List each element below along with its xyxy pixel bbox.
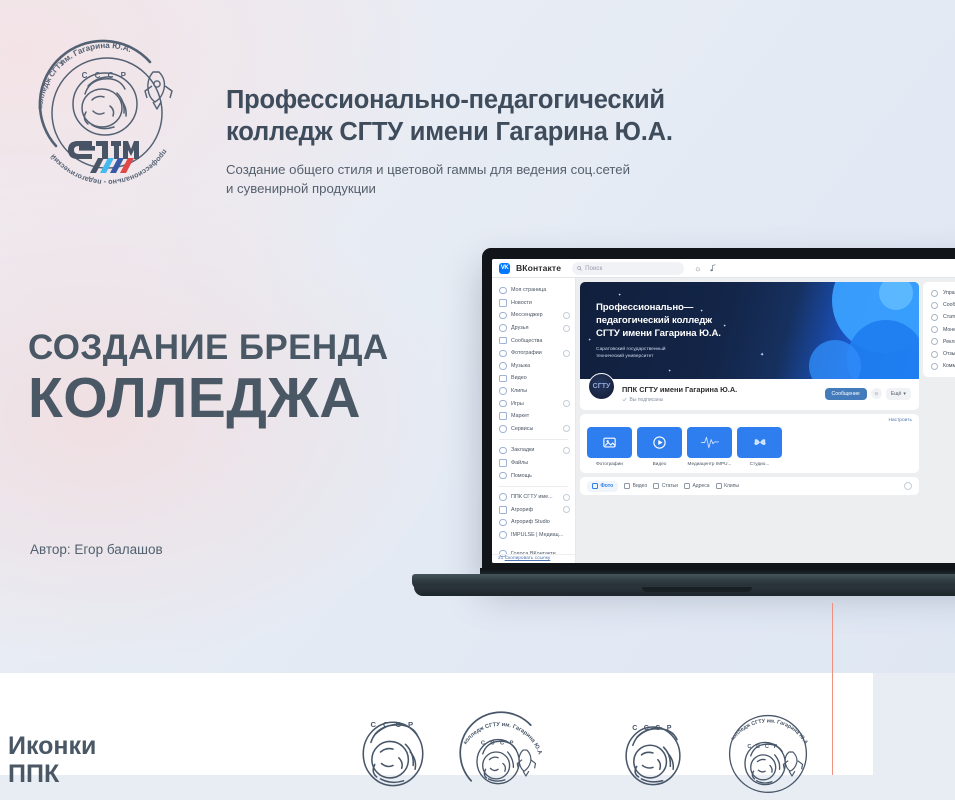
profile-icon: [499, 287, 507, 295]
news-icon: [499, 299, 507, 307]
sidebar-item-badge: [563, 447, 570, 454]
svg-text:С С С Р: С С С Р: [371, 720, 416, 729]
sidebar-item-badge: [563, 350, 570, 357]
photo-icon: [592, 483, 598, 489]
svg-text:С С С Р: С С С Р: [481, 740, 516, 746]
sidebar-item-label: Сервисы: [511, 426, 559, 432]
sidebar-footer-link[interactable]: Скопировать ссылку: [505, 556, 551, 561]
sidebar-item-3[interactable]: Мессенджер: [492, 309, 575, 322]
post-action-label: Адреса: [692, 483, 709, 489]
page-subtitle-line1: Создание общего стиля и цветовой гаммы д…: [226, 160, 826, 179]
star-decoration: ✦: [618, 292, 621, 297]
sidebar-item-badge: [563, 494, 570, 501]
post-composer-bar: ФотоВидеоСтатьиАдресаКлипы: [580, 477, 919, 495]
manage-item-label: Статистика: [943, 314, 955, 320]
icons-slide-heading: Иконки ППК: [8, 732, 96, 788]
waveform-tile-icon: [687, 427, 732, 458]
svg-text:С С С Р: С С С Р: [82, 71, 129, 80]
cover-subtitle-line2: технический университет: [596, 354, 666, 361]
manage-item-7[interactable]: Комментарии: [923, 360, 955, 372]
icon-variant-1: С С С Р: [345, 704, 441, 800]
cover-subtitle: Саратовский государственный технический …: [596, 347, 666, 361]
sidebar-item-badge: [563, 325, 570, 332]
sidebar-item-label: Помощь: [511, 473, 570, 479]
sidebar-item-label: Агрориф: [511, 507, 559, 513]
sidebar-item-5[interactable]: Сообщества: [492, 334, 575, 347]
sidebar-item-1[interactable]: Закладки: [492, 444, 575, 457]
post-action-label: Видео: [633, 483, 648, 489]
hero-heading: СОЗДАНИЕ БРЕНДА КОЛЛЕДЖА: [28, 330, 389, 428]
butterfly-tile-icon: [737, 427, 782, 458]
vk-content: ✦ ✦ ✦ ✦ ✦ ✦ Профессионально— педагогичес…: [576, 278, 955, 563]
clips-icon: [716, 483, 722, 489]
more-button[interactable]: Ещё ▾: [886, 388, 911, 400]
manage-item-3[interactable]: Статистика: [923, 311, 955, 323]
sidebar-item-10[interactable]: Игры: [492, 397, 575, 410]
page-subtitle: Создание общего стиля и цветовой гаммы д…: [226, 160, 826, 198]
sidebar-item-2[interactable]: Новости: [492, 297, 575, 310]
post-action-label: Статьи: [662, 483, 678, 489]
vk-logo-icon[interactable]: VK: [499, 263, 510, 274]
photo-tile-icon: [587, 427, 632, 458]
community-tile-label: Медиацентр IMPU...: [687, 461, 732, 466]
post-action-видео[interactable]: Видео: [624, 483, 647, 489]
community-actions: Сообщение ☼ Ещё ▾: [825, 388, 911, 400]
community-identity: ППК СГТУ имени Гагарина Ю.А. Вы подписан…: [622, 385, 737, 403]
community-tiles-card: Настроить ФотографииВидеоМедиацентр IMPU…: [580, 414, 919, 474]
page-title: Профессионально-педагогический колледж С…: [226, 84, 826, 149]
laptop-mockup: VK ВКонтакте Поиск ☼ ▾: [412, 248, 955, 618]
group-icon: [499, 506, 507, 514]
files-icon: [499, 459, 507, 467]
sidebar-item-label: Файлы: [511, 460, 570, 466]
cover-title-line3: СГТУ имени Гагарина Ю.А.: [596, 328, 721, 341]
photos-icon: [499, 350, 507, 358]
sidebar-item-9[interactable]: Клипы: [492, 385, 575, 398]
group-icon: [499, 531, 507, 539]
sidebar-item-label: Новости: [511, 300, 570, 306]
sidebar-item-label: Музыка: [511, 363, 570, 369]
sidebar-item-7[interactable]: Музыка: [492, 360, 575, 373]
sidebar-item-label: Друзья: [511, 325, 559, 331]
sidebar-item-1[interactable]: ППК СГТУ име...: [492, 491, 575, 504]
svg-text:колледж СГТУ: колледж СГТУ: [35, 58, 66, 109]
clips-icon: [499, 387, 507, 395]
post-action-клипы[interactable]: Клипы: [716, 483, 739, 489]
manage-item-label: Реклама сообщества: [943, 339, 955, 345]
icon-variant-3: С С С Р: [605, 704, 701, 800]
sidebar-item-label: Фотографии: [511, 350, 559, 356]
manage-item-label: Отзывы: [943, 351, 955, 357]
sidebar-item-3[interactable]: Помощь: [492, 469, 575, 482]
video-icon: [624, 483, 630, 489]
sidebar-item-badge: [563, 506, 570, 513]
coin-icon: [931, 326, 938, 333]
divider: [499, 439, 568, 440]
page-title-line2: колледж СГТУ имени Гагарина Ю.А.: [226, 116, 826, 148]
subscription-status-label: Вы подписаны: [630, 397, 664, 403]
music-note-icon[interactable]: [710, 264, 717, 272]
sidebar-item-badge: [563, 400, 570, 407]
play-tile-icon: [637, 427, 682, 458]
manage-item-label: Управление: [943, 290, 955, 296]
messenger-icon: [499, 312, 507, 320]
sidebar-primary-list: Моя страницаНовостиМессенджерДрузьяСообщ…: [492, 284, 575, 435]
hero-heading-line2: КОЛЛЕДЖА: [28, 368, 389, 428]
sidebar-secondary-list: ЗакладкиФайлыПомощь: [492, 444, 575, 482]
community-name: ППК СГТУ имени Гагарина Ю.А.: [622, 385, 737, 394]
header-block: Профессионально-педагогический колледж С…: [226, 84, 826, 198]
community-tile-label: Видео: [637, 461, 682, 466]
laptop-base: [412, 566, 955, 598]
bell-icon[interactable]: ☼: [871, 388, 882, 399]
review-icon: [931, 351, 938, 358]
sidebar-footer[interactable]: 21 Скопировать ссылку: [492, 554, 575, 562]
post-action-адреса[interactable]: Адреса: [684, 483, 710, 489]
communities-icon: [499, 337, 507, 345]
svg-text:им. Гагарина Ю.А.: им. Гагарина Ю.А.: [58, 41, 133, 67]
sidebar-item-11[interactable]: Маркет: [492, 410, 575, 423]
star-decoration: ✦: [760, 352, 764, 358]
page-subtitle-line2: и сувенирной продукции: [226, 179, 826, 198]
cover-title-line2: педагогический колледж: [596, 315, 721, 328]
vk-body: Моя страницаНовостиМессенджерДрузьяСообщ…: [492, 278, 955, 563]
comment-icon: [931, 363, 938, 370]
sidebar-item-8[interactable]: Видео: [492, 372, 575, 385]
community-tile-label: Фотографии: [587, 461, 632, 466]
music-icon: [499, 362, 507, 370]
gear-icon: [931, 290, 938, 297]
chevron-down-icon: ▾: [903, 391, 906, 397]
sidebar-item-label: Мессенджер: [511, 312, 559, 318]
sidebar-item-2[interactable]: Агрориф: [492, 504, 575, 517]
cover-subtitle-line1: Саратовский государственный: [596, 347, 666, 354]
post-action-статьи[interactable]: Статьи: [653, 483, 678, 489]
sidebar-item-label: Маркет: [511, 413, 570, 419]
vk-sidebar: Моя страницаНовостиМессенджерДрузьяСообщ…: [492, 278, 576, 563]
post-action-label: Фото: [601, 483, 614, 489]
manage-item-6[interactable]: Отзывы: [923, 348, 955, 360]
sidebar-item-4[interactable]: Друзья: [492, 322, 575, 335]
title-slide: им. Гагарина Ю.А. колледж СГТУ профессио…: [0, 0, 955, 673]
market-icon: [499, 412, 507, 420]
community-tile[interactable]: Студио...: [737, 427, 782, 467]
message-button[interactable]: Сообщение: [825, 388, 867, 400]
sidebar-item-badge: [563, 425, 570, 432]
vk-topbar: VK ВКонтакте Поиск ☼ ▾: [492, 259, 955, 278]
sidebar-item-label: Игры: [511, 401, 559, 407]
laptop-base-notch: [642, 587, 752, 592]
video-icon: [499, 375, 507, 383]
sidebar-item-label: ППК СГТУ име...: [511, 494, 559, 500]
post-action-label: Клипы: [724, 483, 739, 489]
bookmark-icon: [499, 447, 507, 455]
laptop-screen: VK ВКонтакте Поиск ☼ ▾: [492, 259, 955, 563]
sidebar-item-label: Моя страница: [511, 287, 570, 293]
subscription-status: Вы подписаны: [622, 397, 737, 403]
more-button-label: Ещё: [891, 391, 902, 397]
sidebar-item-label: Закладки: [511, 447, 559, 453]
sidebar-item-label: Видео: [511, 375, 570, 381]
sidebar-item-label: Клипы: [511, 388, 570, 394]
post-action-фото[interactable]: Фото: [587, 481, 618, 492]
friends-icon: [499, 324, 507, 332]
manage-list: УправлениеСообщения1СтатистикаМонетизаци…: [923, 282, 955, 377]
sidebar-groups-list: ППК СГТУ име...АгрорифАгрориф StudioIMPU…: [492, 491, 575, 541]
search-input[interactable]: Поиск: [572, 262, 684, 275]
chart-icon: [931, 314, 938, 321]
sidebar-item-3[interactable]: Агрориф Studio: [492, 516, 575, 529]
icons-heading-line1: Иконки: [8, 732, 96, 760]
community-tile[interactable]: Видео: [637, 427, 682, 467]
divider: [499, 486, 568, 487]
sidebar-item-label: Агрориф Studio: [511, 519, 570, 525]
star-decoration: ✦: [723, 323, 726, 328]
sidebar-item-badge: [563, 312, 570, 319]
sidebar-item-6[interactable]: Фотографии: [492, 347, 575, 360]
sidebar-item-12[interactable]: Сервисы: [492, 423, 575, 436]
sidebar-item-1[interactable]: Моя страница: [492, 284, 575, 297]
manage-item-2[interactable]: Сообщения1: [923, 299, 955, 311]
hero-heading-line1: СОЗДАНИЕ БРЕНДА: [28, 330, 389, 365]
group-icon: [499, 493, 507, 501]
community-header: СГТУ ППК СГТУ имени Гагарина Ю.А. Вы под…: [580, 379, 919, 410]
more-icon[interactable]: [904, 482, 912, 490]
community-manage-panel: УправлениеСообщения1СтатистикаМонетизаци…: [923, 282, 955, 563]
check-icon: [622, 397, 627, 402]
sidebar-item-label: IMPULSE | Медиац...: [511, 532, 570, 538]
layout-guide-line: [832, 603, 833, 775]
notifications-bell-icon[interactable]: ☼: [694, 264, 701, 273]
manage-item-label: Монетизация: [943, 327, 955, 333]
icon-variant-2: колледж СГТУ им. Гагарина Ю.А. С С С Р: [452, 704, 548, 800]
college-emblem: им. Гагарина Ю.А. колледж СГТУ профессио…: [22, 28, 192, 198]
services-icon: [499, 425, 507, 433]
laptop-lid: VK ВКонтакте Поиск ☼ ▾: [482, 248, 955, 576]
games-icon: [499, 400, 507, 408]
author-credit: Автор: Егор балашов: [30, 542, 163, 557]
icon-variant-4: колледж СГТУ им. Гагарина Ю.А. С С С Р: [720, 704, 816, 800]
help-icon: [499, 472, 507, 480]
community-avatar[interactable]: СГТУ: [588, 373, 615, 400]
sidebar-item-4[interactable]: IMPULSE | Медиац...: [492, 529, 575, 542]
star-decoration: ✦: [668, 368, 671, 373]
sidebar-footer-count: 21: [498, 556, 503, 561]
vk-wordmark[interactable]: ВКонтакте: [516, 263, 561, 273]
tiles-setup-link[interactable]: Настроить: [889, 418, 912, 423]
cover-title-line1: Профессионально—: [596, 302, 721, 315]
location-icon: [684, 483, 690, 489]
search-placeholder: Поиск: [585, 265, 602, 272]
page-title-line1: Профессионально-педагогический: [226, 84, 826, 116]
community-cover: ✦ ✦ ✦ ✦ ✦ ✦ Профессионально— педагогичес…: [580, 282, 919, 379]
megaphone-icon: [931, 338, 938, 345]
manage-item-label: Сообщения: [943, 302, 955, 308]
cover-title: Профессионально— педагогический колледж …: [596, 302, 721, 341]
manage-item-5[interactable]: Реклама сообщества: [923, 336, 955, 348]
community-tile-label: Студио...: [737, 461, 782, 466]
community-tile[interactable]: Фотографии: [587, 427, 632, 467]
svg-text:С С С Р: С С С Р: [747, 744, 779, 750]
sidebar-item-label: Сообщества: [511, 338, 570, 344]
manage-item-label: Комментарии: [943, 363, 955, 369]
svg-text:С С С Р: С С С Р: [632, 724, 673, 732]
community-tile[interactable]: Медиацентр IMPU...: [687, 427, 732, 467]
search-icon: [577, 266, 582, 271]
icons-heading-line2: ППК: [8, 760, 96, 788]
message-icon: [931, 302, 938, 309]
article-icon: [653, 483, 659, 489]
group-icon: [499, 519, 507, 527]
sidebar-item-2[interactable]: Файлы: [492, 457, 575, 470]
manage-item-1[interactable]: Управление: [923, 287, 955, 299]
manage-item-4[interactable]: Монетизация: [923, 324, 955, 336]
star-decoration: ✦: [588, 337, 591, 342]
tiles-row: ФотографииВидеоМедиацентр IMPU...Студио.…: [587, 427, 912, 467]
vk-main-column: ✦ ✦ ✦ ✦ ✦ ✦ Профессионально— педагогичес…: [580, 282, 919, 563]
